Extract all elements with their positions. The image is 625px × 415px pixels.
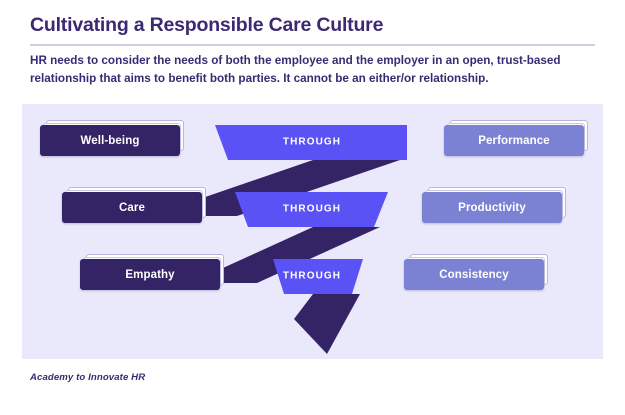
page-title: Cultivating a Responsible Care Culture [30,14,383,37]
card-face: Performance [444,125,584,156]
right-card-performance[interactable]: Performance [444,125,584,156]
right-card-productivity[interactable]: Productivity [422,192,562,223]
right-card-consistency[interactable]: Consistency [404,259,544,290]
diagram-panel: THROUGH THROUGH THROUGH Well-being Care … [22,104,603,359]
left-card-label: Care [119,202,145,214]
page-subtitle: HR needs to consider the needs of both t… [30,52,598,88]
card-face: Well-being [40,125,180,156]
right-card-label: Productivity [458,202,526,214]
connector-label-2: THROUGH [283,204,341,215]
right-card-label: Consistency [439,269,508,281]
left-card-empathy[interactable]: Empathy [80,259,220,290]
left-card-label: Well-being [81,135,140,147]
left-card-label: Empathy [125,269,174,281]
left-card-well-being[interactable]: Well-being [40,125,180,156]
funnel-tail [294,294,360,354]
source-attribution: Academy to Innovate HR [30,372,145,383]
card-face: Care [62,192,202,223]
connector-label-3: THROUGH [283,271,341,282]
title-divider [30,44,595,46]
left-card-care[interactable]: Care [62,192,202,223]
card-face: Consistency [404,259,544,290]
slide: Cultivating a Responsible Care Culture H… [0,0,625,415]
card-face: Productivity [422,192,562,223]
right-card-label: Performance [478,135,549,147]
connector-label-1: THROUGH [283,137,341,148]
card-face: Empathy [80,259,220,290]
